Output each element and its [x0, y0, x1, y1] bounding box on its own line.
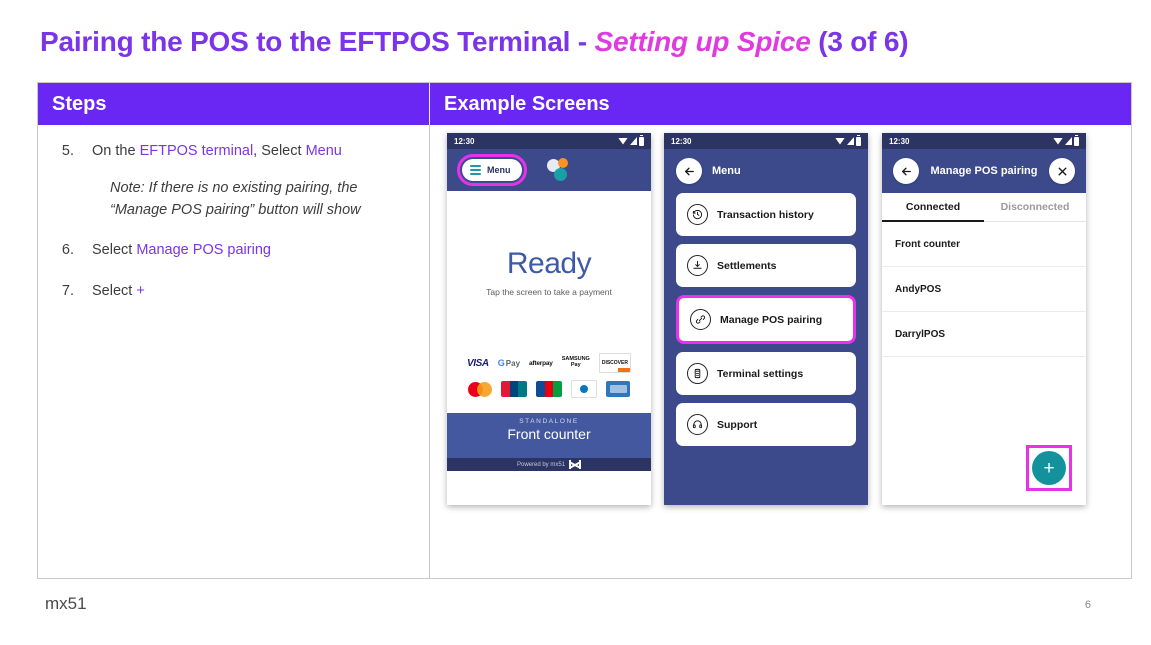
status-bar: 12:30	[447, 133, 651, 149]
menu-item-settlements[interactable]: Settlements	[676, 244, 856, 287]
step-number: 7.	[52, 281, 92, 303]
step-text-accent: EFTPOS terminal	[140, 143, 254, 159]
menu-item-label: Support	[717, 419, 757, 431]
samsungpay-icon: SAMSUNGPay	[562, 355, 590, 371]
list-item[interactable]: DarrylPOS	[882, 312, 1086, 357]
signal-icon	[1065, 137, 1072, 145]
list-item[interactable]: AndyPOS	[882, 267, 1086, 312]
column-header-steps: Steps	[38, 83, 430, 125]
phone2-body: Menu Transaction history	[664, 149, 868, 505]
card-logos-row-2	[447, 380, 651, 398]
card-logos: VISA GPay afterpay SAMSUNGPay DISCOVER	[447, 353, 651, 405]
battery-icon	[1074, 137, 1079, 146]
phone1-footer: STANDALONE Front counter	[447, 413, 651, 458]
status-time: 12:30	[454, 137, 474, 146]
step-note: Note: If there is no existing pairing, t…	[110, 177, 400, 222]
link-icon	[690, 309, 711, 330]
back-arrow-icon[interactable]	[893, 158, 919, 184]
phone1-header: Menu	[447, 149, 651, 191]
amex-icon	[606, 381, 630, 397]
terminal-icon	[687, 363, 708, 384]
step-text-accent: Manage POS pairing	[136, 242, 271, 258]
phone2-header: Menu	[676, 149, 856, 193]
steps-cell: 5. On the EFTPOS terminal, Select Menu N…	[38, 125, 430, 579]
status-time: 12:30	[671, 137, 691, 146]
spacer	[52, 265, 415, 281]
battery-icon	[856, 137, 861, 146]
table-header-row: Steps Example Screens	[38, 83, 1131, 125]
menu-item-label: Transaction history	[717, 209, 814, 221]
powered-by-bar: Powered by mx51	[447, 458, 651, 471]
tab-connected[interactable]: Connected	[882, 193, 984, 221]
footer-brand: mx51	[45, 594, 87, 614]
step-item-5: 5. On the EFTPOS terminal, Select Menu	[52, 141, 415, 163]
title-emphasis: Setting up Spice	[594, 26, 810, 57]
step-text-accent: Menu	[306, 143, 342, 159]
afterpay-icon: afterpay	[529, 355, 553, 371]
wifi-icon	[618, 138, 628, 145]
headset-icon	[687, 414, 708, 435]
step-text-part: On the	[92, 143, 140, 159]
step-text-part: Select	[92, 242, 136, 258]
phone2-title: Menu	[712, 165, 741, 177]
step-text-accent: +	[136, 283, 144, 299]
step-number: 6.	[52, 240, 92, 262]
page-title: Pairing the POS to the EFTPOS Terminal -…	[40, 26, 1110, 58]
ready-subtitle: Tap the screen to take a payment	[447, 287, 651, 297]
discover-icon: DISCOVER	[599, 353, 631, 373]
menu-button[interactable]: Menu	[462, 159, 522, 181]
status-bar: 12:30	[664, 133, 868, 149]
standalone-label: STANDALONE	[447, 418, 651, 425]
powered-by-label: Powered by mx51	[517, 462, 565, 468]
pairing-list: Front counter AndyPOS DarrylPOS	[882, 222, 1086, 357]
phone1-body[interactable]: Ready Tap the screen to take a payment V…	[447, 191, 651, 413]
wifi-icon	[835, 138, 845, 145]
history-icon	[687, 204, 708, 225]
hamburger-icon	[470, 165, 481, 175]
title-prefix: Pairing the POS to the EFTPOS Terminal -	[40, 26, 594, 57]
status-icons	[618, 137, 644, 146]
title-suffix: (3 of 6)	[811, 26, 909, 57]
phone-screen-pairing: 12:30 Manage POS pairing	[882, 133, 1086, 505]
menu-item-label: Settlements	[717, 260, 777, 272]
back-arrow-icon[interactable]	[676, 158, 702, 184]
step-text-part: , Select	[253, 143, 305, 159]
pairing-tabs: Connected Disconnected	[882, 193, 1086, 222]
terminal-name: Front counter	[447, 426, 651, 442]
phone-screen-ready: 12:30 Menu	[447, 133, 651, 505]
signal-icon	[630, 137, 637, 145]
status-time: 12:30	[889, 137, 909, 146]
step-text: Select Manage POS pairing	[92, 240, 415, 262]
menu-button-highlight: Menu	[457, 154, 527, 186]
menu-item-label: Terminal settings	[717, 368, 803, 380]
footer-page-number: 6	[1085, 599, 1091, 611]
card-logos-row-1: VISA GPay afterpay SAMSUNGPay DISCOVER	[447, 353, 651, 373]
mastercard-icon	[468, 382, 492, 397]
phone3-title: Manage POS pairing	[928, 165, 1040, 177]
column-header-screens: Example Screens	[430, 83, 1131, 125]
menu-item-manage-pos-pairing[interactable]: Manage POS pairing	[676, 295, 856, 344]
signal-icon	[847, 137, 854, 145]
step-text: On the EFTPOS terminal, Select Menu	[92, 141, 415, 163]
dinersclub-icon	[571, 380, 597, 398]
download-icon	[687, 255, 708, 276]
close-icon[interactable]	[1049, 158, 1075, 184]
screens-cell: 12:30 Menu	[430, 125, 1131, 579]
menu-item-support[interactable]: Support	[676, 403, 856, 446]
phone-screen-menu: 12:30 Menu	[664, 133, 868, 505]
steps-table: Steps Example Screens 5. On the EFTPOS t…	[37, 82, 1132, 579]
tab-disconnected[interactable]: Disconnected	[984, 193, 1086, 221]
step-item-6: 6. Select Manage POS pairing	[52, 240, 415, 262]
step-number: 5.	[52, 141, 92, 163]
jcb-icon	[536, 381, 562, 397]
menu-item-label: Manage POS pairing	[720, 314, 822, 326]
wifi-icon	[1053, 138, 1063, 145]
step-item-7: 7. Select +	[52, 281, 415, 303]
list-item[interactable]: Front counter	[882, 222, 1086, 267]
step-text: Select +	[92, 281, 415, 303]
unionpay-icon	[501, 381, 527, 397]
phone3-header: Manage POS pairing	[882, 149, 1086, 193]
status-icons	[835, 137, 861, 146]
step-text-part: Select	[92, 283, 136, 299]
status-icons	[1053, 137, 1079, 146]
table-body-row: 5. On the EFTPOS terminal, Select Menu N…	[38, 125, 1131, 579]
add-pairing-highlight: +	[1026, 445, 1072, 491]
status-bar: 12:30	[882, 133, 1086, 149]
mx51-mark-icon	[569, 460, 581, 469]
add-pairing-button[interactable]: +	[1032, 451, 1066, 485]
slide-root: Pairing the POS to the EFTPOS Terminal -…	[0, 0, 1151, 645]
ready-title: Ready	[447, 247, 651, 281]
battery-icon	[639, 137, 644, 146]
menu-item-transaction-history[interactable]: Transaction history	[676, 193, 856, 236]
gpay-icon: GPay	[498, 355, 520, 371]
brand-logo-icon	[547, 158, 573, 182]
visa-icon: VISA	[467, 355, 489, 371]
menu-item-terminal-settings[interactable]: Terminal settings	[676, 352, 856, 395]
